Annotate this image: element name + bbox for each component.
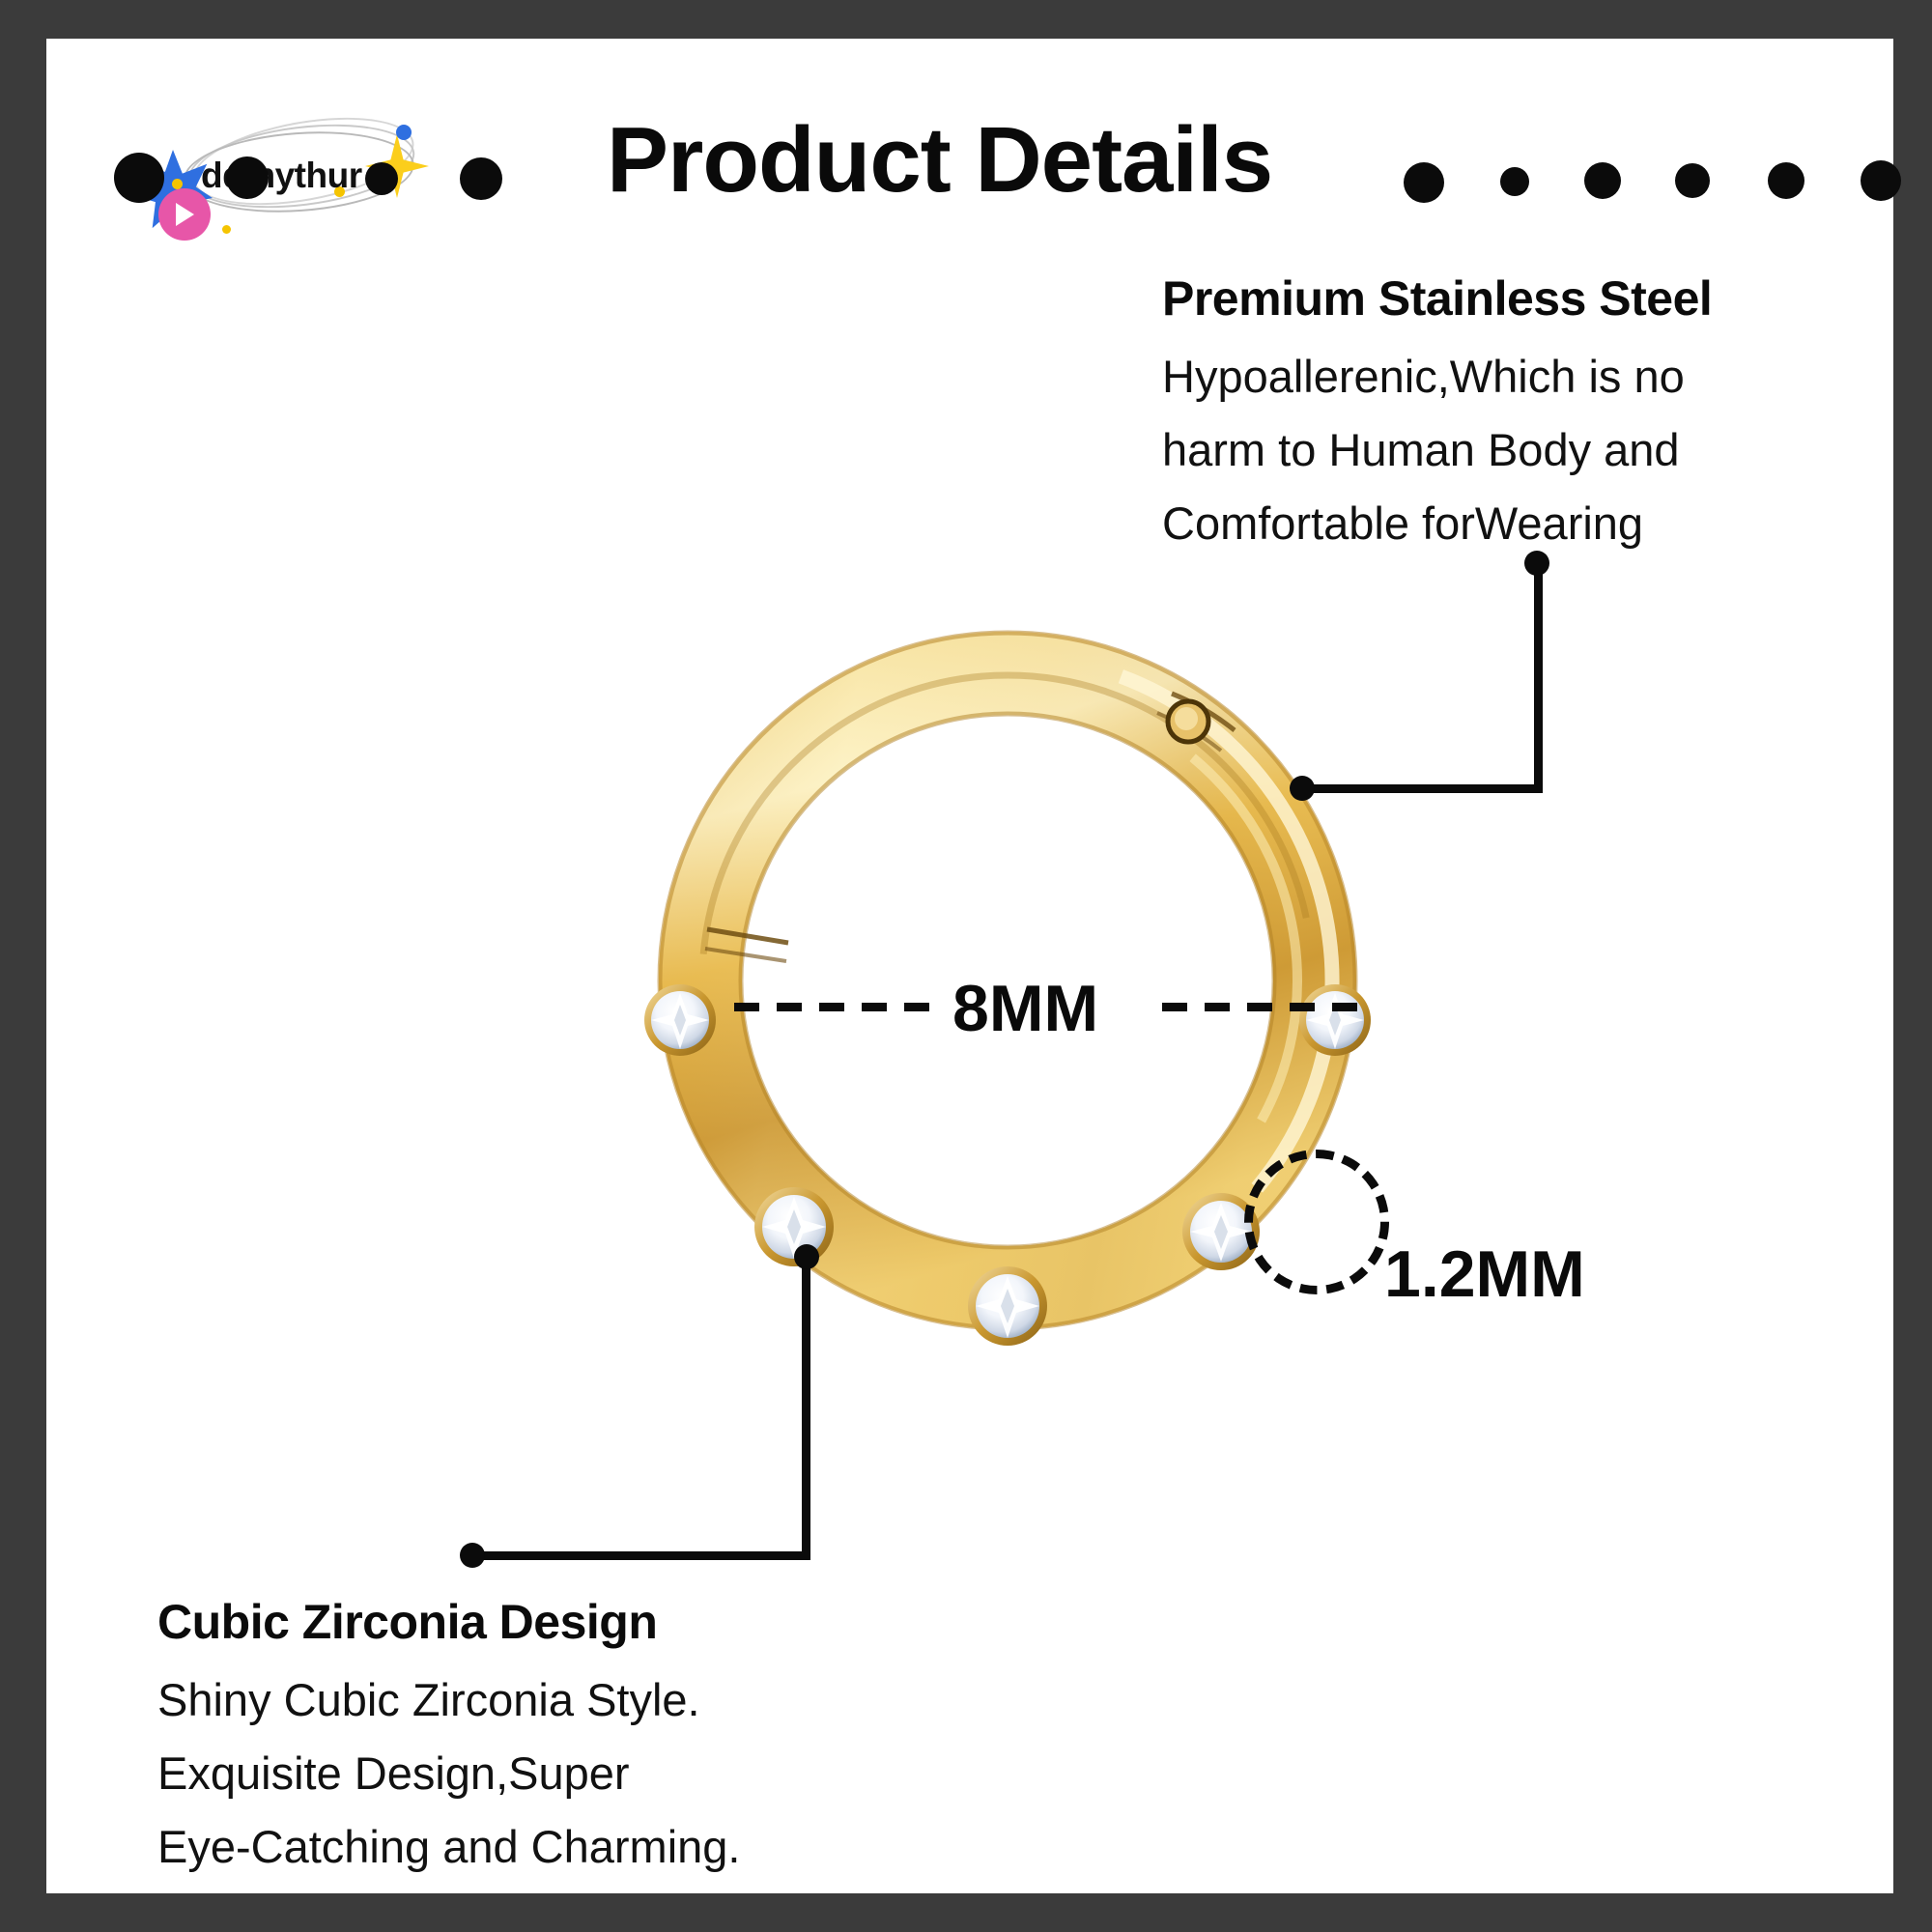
header-dot-left-3	[365, 162, 398, 195]
logo-accent-dot-1	[172, 179, 183, 189]
header-dot-left-1	[114, 153, 164, 203]
header-dot-right-4	[1675, 163, 1710, 198]
header-dot-left-4	[460, 157, 502, 200]
page-title: Product Details	[607, 114, 1272, 207]
gem-right-upper	[1299, 984, 1371, 1056]
diameter-dash-left	[734, 1003, 932, 1011]
header-dot-right-2	[1500, 167, 1529, 196]
header-dot-right-3	[1584, 162, 1621, 199]
diameter-dash-right	[1162, 1003, 1360, 1011]
gem-bottom-center	[968, 1266, 1047, 1346]
page-header: ddmythur Product Details	[46, 39, 1893, 222]
brand-name: ddmythur	[201, 156, 362, 196]
callout-line-cz-3: Eye-Catching and Charming.	[157, 1818, 740, 1876]
callout-line-steel-1: Hypoallerenic,Which is no	[1162, 348, 1712, 406]
diameter-label: 8MM	[952, 971, 1098, 1046]
product-details-page: ddmythur Product Details	[0, 0, 1932, 1932]
leader-steel-vertical	[1534, 560, 1543, 792]
logo-accent-dot-3	[222, 225, 231, 234]
callout-title-steel: Premium Stainless Steel	[1162, 270, 1712, 327]
leader-steel-origin-dot	[1524, 551, 1549, 576]
leader-cz-origin-dot	[794, 1244, 819, 1269]
white-card: ddmythur Product Details	[46, 39, 1893, 1893]
callout-line-steel-3: Comfortable forWearing	[1162, 495, 1712, 553]
leader-steel-endpoint-dot	[1290, 776, 1315, 801]
callout-cubic-zirconia-design: Cubic Zirconia Design Shiny Cubic Zircon…	[157, 1594, 740, 1876]
leader-cz-vertical	[802, 1254, 810, 1559]
header-dot-right-6	[1861, 160, 1901, 201]
callout-title-cz: Cubic Zirconia Design	[157, 1594, 740, 1650]
header-dot-right-5	[1768, 162, 1804, 199]
callout-line-cz-2: Exquisite Design,Super	[157, 1745, 740, 1803]
gauge-dashed-circle	[1244, 1150, 1389, 1294]
leader-cz-endpoint-dot	[460, 1543, 485, 1568]
gauge-label: 1.2MM	[1384, 1236, 1585, 1312]
leader-steel-horizontal	[1297, 784, 1543, 793]
gem-left-upper	[644, 984, 716, 1056]
header-dot-left-2	[226, 156, 269, 199]
blue-dot-icon	[396, 125, 412, 140]
callout-line-cz-1: Shiny Cubic Zirconia Style.	[157, 1671, 740, 1729]
play-triangle-icon	[176, 203, 194, 226]
callout-premium-stainless-steel: Premium Stainless Steel Hypoallerenic,Wh…	[1162, 270, 1712, 553]
leader-cz-horizontal	[479, 1551, 810, 1560]
header-dot-right-1	[1404, 162, 1444, 203]
callout-line-steel-2: harm to Human Body and	[1162, 421, 1712, 479]
